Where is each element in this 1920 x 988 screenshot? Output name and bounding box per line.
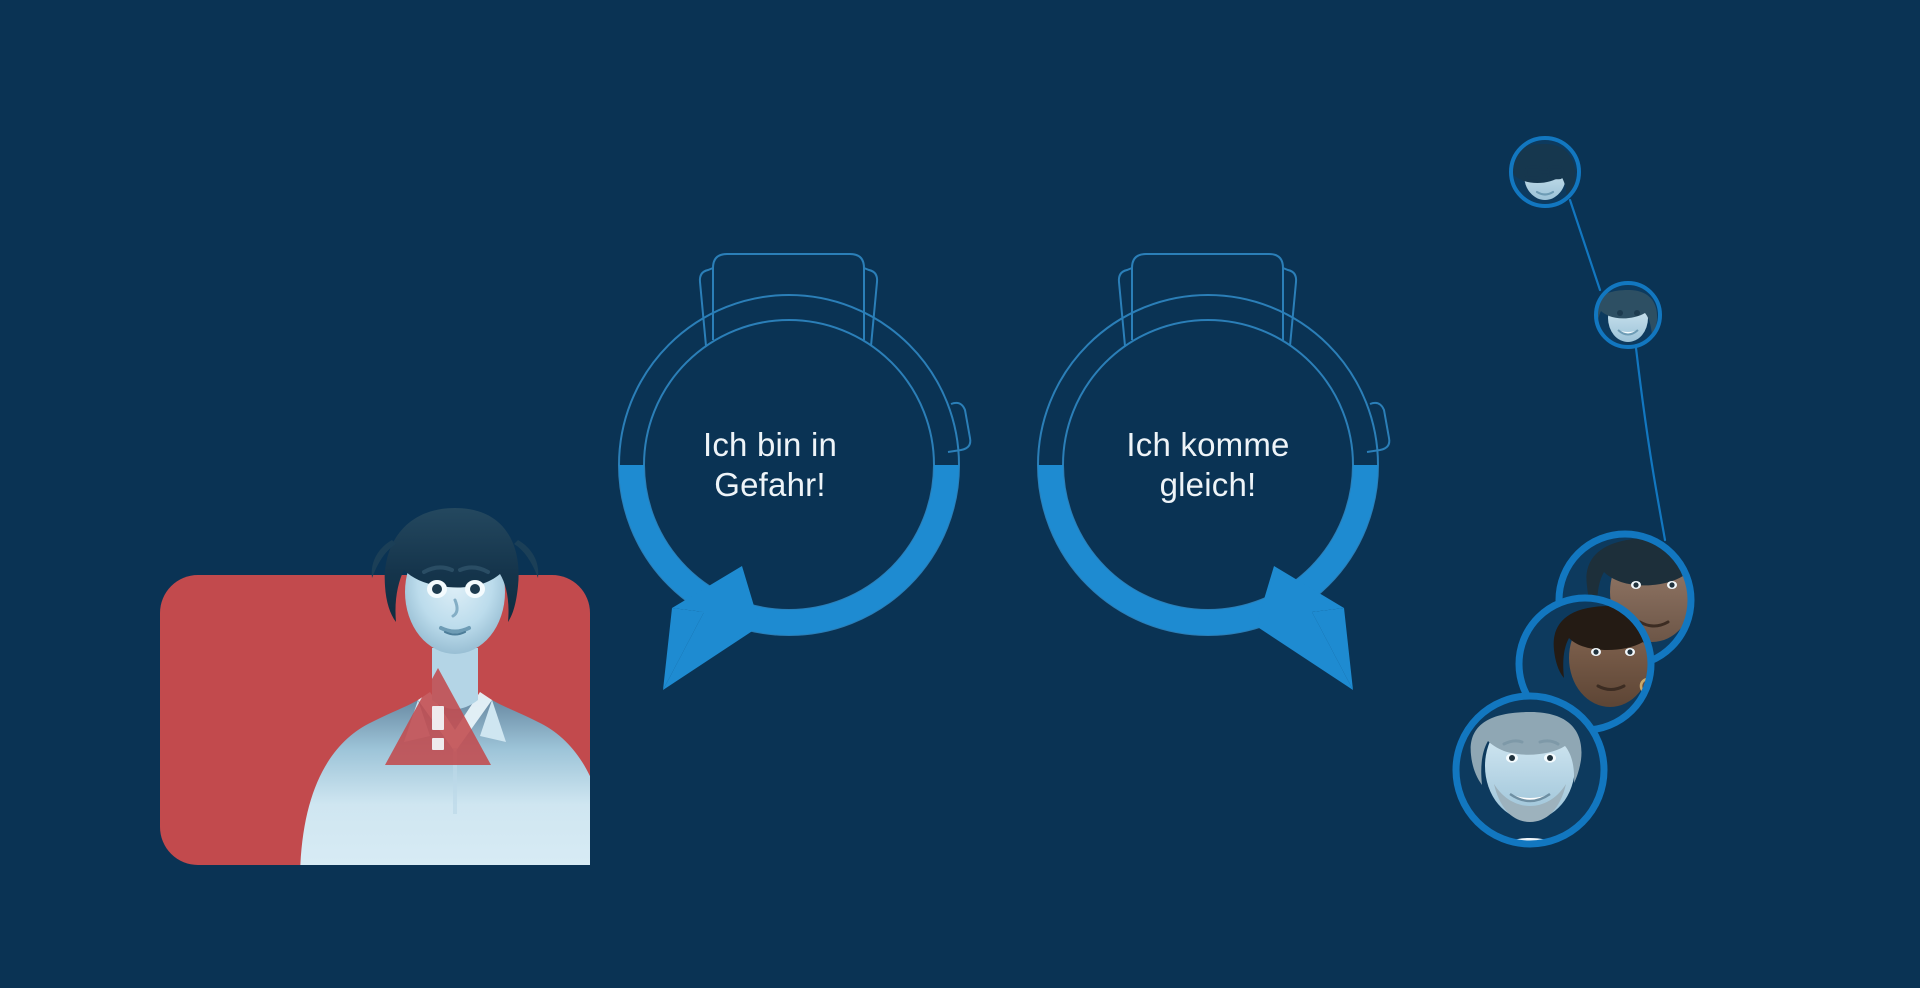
scene-root: Ich bin in Gefahr! Ich komme gleich! [0,0,1920,988]
responder-network [0,0,1920,988]
network-connector-line [1570,200,1665,540]
avatar-2[interactable] [1591,283,1660,382]
avatar-5[interactable] [1456,696,1604,890]
avatar-1[interactable] [1500,138,1585,244]
